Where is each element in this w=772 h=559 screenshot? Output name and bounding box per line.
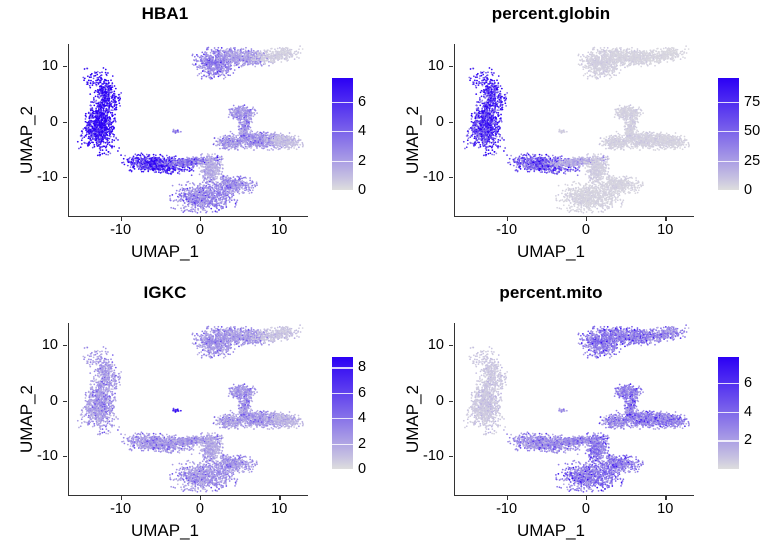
y-axis-title: UMAP_2 xyxy=(403,339,423,499)
colorbar-tick-label: 2 xyxy=(744,432,752,448)
y-axis-title: UMAP_2 xyxy=(17,339,37,499)
x-tick-label: 0 xyxy=(582,501,590,517)
colorbar-tick xyxy=(332,131,353,132)
colorbar-tick-label: 4 xyxy=(744,404,752,420)
y-tick xyxy=(449,177,453,178)
colorbar-tick xyxy=(718,440,739,441)
colorbar-gradient xyxy=(718,78,739,190)
colorbar-tick-label: 6 xyxy=(744,375,752,391)
colorbar-tick xyxy=(718,412,739,413)
x-tick xyxy=(586,496,587,500)
y-axis-title: UMAP_2 xyxy=(17,60,37,220)
y-axis-line xyxy=(454,323,455,496)
umap-scatter-canvas xyxy=(0,0,386,279)
x-axis-line xyxy=(454,216,694,217)
colorbar-tick xyxy=(332,161,353,162)
colorbar-tick xyxy=(718,190,739,191)
colorbar-gradient xyxy=(332,78,353,190)
y-tick xyxy=(449,66,453,67)
y-tick xyxy=(449,345,453,346)
colorbar-tick-label: 2 xyxy=(358,436,366,452)
x-tick xyxy=(200,496,201,500)
umap-scatter-canvas xyxy=(386,279,772,558)
colorbar-tick-label: 50 xyxy=(744,123,760,139)
colorbar-tick xyxy=(332,444,353,445)
x-tick xyxy=(200,217,201,221)
x-axis-line xyxy=(68,216,308,217)
y-tick xyxy=(63,456,67,457)
x-tick-label: 10 xyxy=(657,222,673,238)
y-tick xyxy=(449,401,453,402)
x-tick xyxy=(507,217,508,221)
colorbar-tick xyxy=(332,102,353,103)
panel-percent-mito: percent.mito100-10-10010UMAP_1UMAP_2642 xyxy=(386,279,772,558)
x-axis-title: UMAP_1 xyxy=(0,242,330,262)
y-tick xyxy=(63,345,67,346)
colorbar-tick xyxy=(332,367,353,368)
panel-hba1: HBA1100-10-10010UMAP_1UMAP_26420 xyxy=(0,0,386,279)
colorbar-tick-label: 0 xyxy=(358,461,366,477)
umap-scatter-canvas xyxy=(0,279,386,558)
panel-igkc: IGKC100-10-10010UMAP_1UMAP_286420 xyxy=(0,279,386,558)
colorbar-tick xyxy=(718,161,739,162)
x-tick-label: -10 xyxy=(110,222,131,238)
colorbar-tick xyxy=(332,393,353,394)
y-tick xyxy=(63,177,67,178)
y-axis-line xyxy=(68,44,69,217)
colorbar-tick xyxy=(332,469,353,470)
x-axis-title: UMAP_1 xyxy=(0,521,330,541)
feature-plot-figure: HBA1100-10-10010UMAP_1UMAP_26420percent.… xyxy=(0,0,772,559)
x-tick-label: -10 xyxy=(496,222,517,238)
colorbar-tick xyxy=(718,131,739,132)
y-tick xyxy=(63,66,67,67)
x-tick-label: 10 xyxy=(271,501,287,517)
y-axis-line xyxy=(454,44,455,217)
colorbar: 86420 xyxy=(332,357,386,469)
colorbar-tick-label: 25 xyxy=(744,153,760,169)
colorbar-tick-label: 6 xyxy=(358,94,366,110)
colorbar-tick xyxy=(718,383,739,384)
colorbar-tick xyxy=(718,102,739,103)
umap-scatter-canvas xyxy=(386,0,772,279)
x-axis-title: UMAP_1 xyxy=(386,521,716,541)
x-axis-title: UMAP_1 xyxy=(386,242,716,262)
colorbar-tick-label: 4 xyxy=(358,123,366,139)
x-tick xyxy=(279,217,280,221)
x-tick xyxy=(665,217,666,221)
colorbar: 642 xyxy=(718,357,772,469)
x-tick xyxy=(586,217,587,221)
x-tick-label: -10 xyxy=(496,501,517,517)
x-tick xyxy=(121,496,122,500)
y-axis-title: UMAP_2 xyxy=(403,60,423,220)
x-tick-label: 10 xyxy=(657,501,673,517)
panel-percent-globin: percent.globin100-10-10010UMAP_1UMAP_275… xyxy=(386,0,772,279)
y-tick xyxy=(449,122,453,123)
colorbar-tick-label: 0 xyxy=(744,182,752,198)
colorbar-tick-label: 6 xyxy=(358,385,366,401)
y-tick xyxy=(63,122,67,123)
x-tick-label: -10 xyxy=(110,501,131,517)
colorbar-tick-label: 75 xyxy=(744,94,760,110)
x-tick xyxy=(121,217,122,221)
x-axis-line xyxy=(454,495,694,496)
x-tick xyxy=(665,496,666,500)
colorbar-gradient xyxy=(332,357,353,469)
colorbar-tick xyxy=(332,418,353,419)
colorbar-tick-label: 2 xyxy=(358,153,366,169)
colorbar-gradient xyxy=(718,357,739,469)
x-tick-label: 0 xyxy=(196,501,204,517)
colorbar-tick-label: 4 xyxy=(358,410,366,426)
y-axis-line xyxy=(68,323,69,496)
x-tick-label: 0 xyxy=(196,222,204,238)
x-tick xyxy=(279,496,280,500)
x-axis-line xyxy=(68,495,308,496)
x-tick-label: 10 xyxy=(271,222,287,238)
colorbar-tick-label: 0 xyxy=(358,182,366,198)
x-tick-label: 0 xyxy=(582,222,590,238)
colorbar-tick xyxy=(332,190,353,191)
x-tick xyxy=(507,496,508,500)
y-tick xyxy=(449,456,453,457)
colorbar: 6420 xyxy=(332,78,386,190)
colorbar-tick-label: 8 xyxy=(358,359,366,375)
colorbar: 7550250 xyxy=(718,78,772,190)
y-tick xyxy=(63,401,67,402)
